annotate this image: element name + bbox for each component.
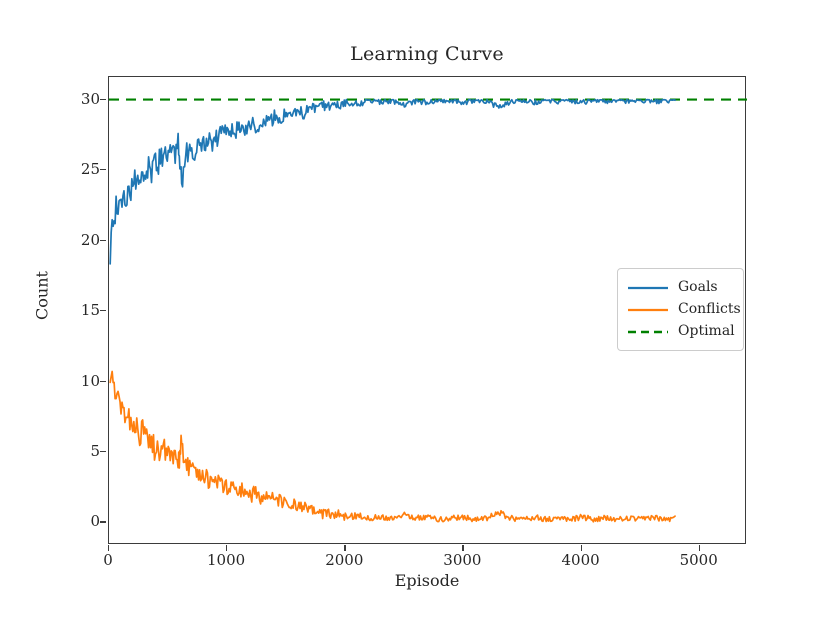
- x-tick-mark: [581, 545, 582, 551]
- figure-canvas: Learning Curve Count 051015202530 010002…: [0, 0, 830, 623]
- x-tick-mark: [108, 545, 109, 551]
- y-tick-mark: [100, 169, 106, 170]
- y-tick-label: 0: [60, 512, 100, 530]
- x-tick-mark: [344, 545, 345, 551]
- x-tick-label: 3000: [422, 551, 502, 569]
- legend-item-goals: Goals: [627, 276, 734, 298]
- y-tick-mark: [100, 451, 106, 452]
- x-tick-label: 0: [68, 551, 148, 569]
- x-tick-label: 2000: [304, 551, 384, 569]
- legend-swatch-conflicts-icon: [627, 302, 669, 316]
- series-line-conflicts: [110, 371, 675, 521]
- y-tick-label: 20: [60, 231, 100, 249]
- y-tick-label: 30: [60, 90, 100, 108]
- y-tick-mark: [100, 521, 106, 522]
- y-tick-mark: [100, 310, 106, 311]
- legend: GoalsConflictsOptimal: [617, 268, 744, 351]
- x-axis-tick-labels: 010002000300040005000: [108, 551, 746, 573]
- legend-swatch-optimal-icon: [627, 324, 669, 338]
- x-tick-label: 1000: [186, 551, 266, 569]
- y-tick-label: 5: [60, 442, 100, 460]
- y-tick-mark: [100, 381, 106, 382]
- x-tick-label: 5000: [659, 551, 739, 569]
- legend-label: Goals: [678, 279, 718, 295]
- y-tick-label: 15: [60, 301, 100, 319]
- legend-label: Conflicts: [678, 301, 741, 317]
- x-axis-label: Episode: [108, 571, 746, 590]
- legend-label: Optimal: [678, 323, 735, 339]
- legend-swatch-goals-icon: [627, 280, 669, 294]
- y-tick-label: 25: [60, 160, 100, 178]
- x-tick-mark: [462, 545, 463, 551]
- legend-item-optimal: Optimal: [627, 320, 734, 342]
- legend-item-conflicts: Conflicts: [627, 298, 734, 320]
- y-tick-mark: [100, 240, 106, 241]
- y-tick-label: 10: [60, 372, 100, 390]
- x-tick-mark: [699, 545, 700, 551]
- y-axis-tick-labels: 051015202530: [52, 76, 100, 544]
- series-line-goals: [110, 100, 675, 264]
- chart-title: Learning Curve: [108, 43, 746, 65]
- y-tick-mark: [100, 99, 106, 100]
- x-tick-mark: [226, 545, 227, 551]
- x-tick-label: 4000: [541, 551, 621, 569]
- y-axis-label: Count: [33, 236, 52, 356]
